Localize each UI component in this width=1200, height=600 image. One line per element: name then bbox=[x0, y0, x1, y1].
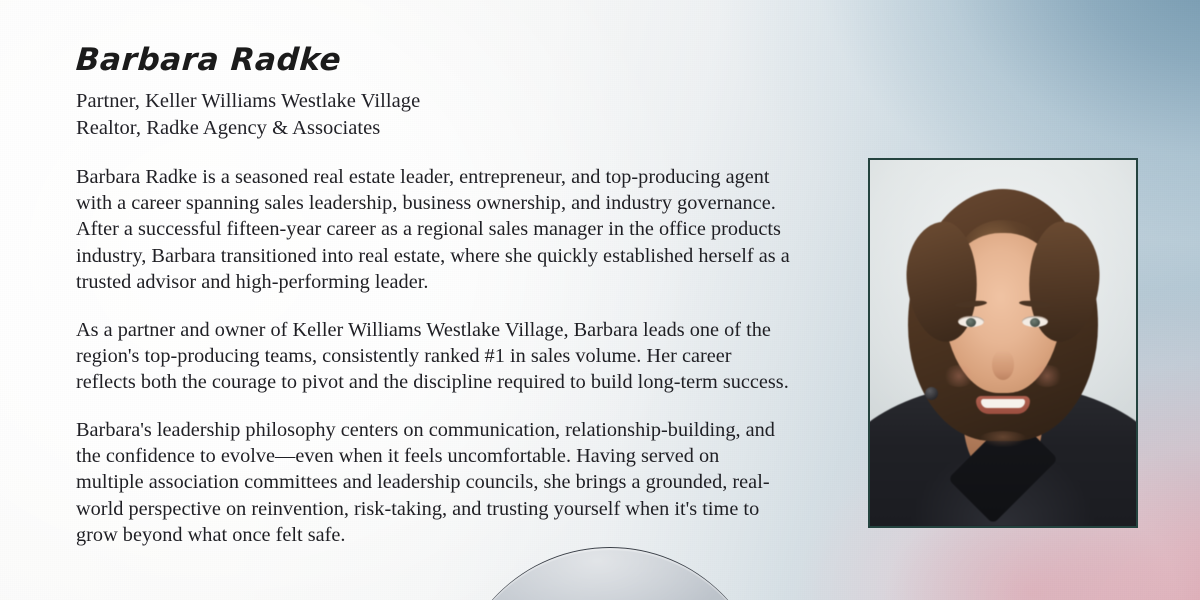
speaker-portrait-photo bbox=[870, 160, 1136, 526]
portrait-iris-left bbox=[966, 318, 976, 327]
bio-paragraph-2: As a partner and owner of Keller William… bbox=[76, 317, 794, 396]
portrait-eye-right bbox=[1022, 316, 1048, 327]
portrait-teeth bbox=[981, 399, 1025, 408]
portrait-cheek-left bbox=[943, 365, 975, 387]
speaker-name: Barbara Radke bbox=[75, 44, 817, 77]
bio-paragraph-1: Barbara Radke is a seasoned real estate … bbox=[76, 164, 808, 296]
speaker-title-line-2: Realtor, Radke Agency & Associates bbox=[76, 115, 816, 142]
portrait-subject bbox=[870, 160, 1136, 526]
decorative-circle-shape bbox=[452, 547, 768, 600]
portrait-earring bbox=[925, 387, 938, 400]
portrait-smile bbox=[976, 396, 1030, 414]
portrait-cheek-right bbox=[1031, 365, 1063, 387]
speaker-bio-slide: Barbara Radke Partner, Keller Williams W… bbox=[0, 0, 1200, 600]
speaker-titles: Partner, Keller Williams Westlake Villag… bbox=[76, 88, 816, 142]
portrait-eye-left bbox=[958, 316, 984, 327]
portrait-iris-right bbox=[1030, 318, 1040, 327]
speaker-title-line-1: Partner, Keller Williams Westlake Villag… bbox=[76, 88, 816, 115]
bio-text-column: Barbara Radke Partner, Keller Williams W… bbox=[76, 44, 816, 549]
speaker-portrait-frame bbox=[868, 158, 1138, 528]
portrait-chin-shading bbox=[977, 431, 1029, 451]
bio-paragraph-3: Barbara's leadership philosophy centers … bbox=[76, 417, 788, 549]
